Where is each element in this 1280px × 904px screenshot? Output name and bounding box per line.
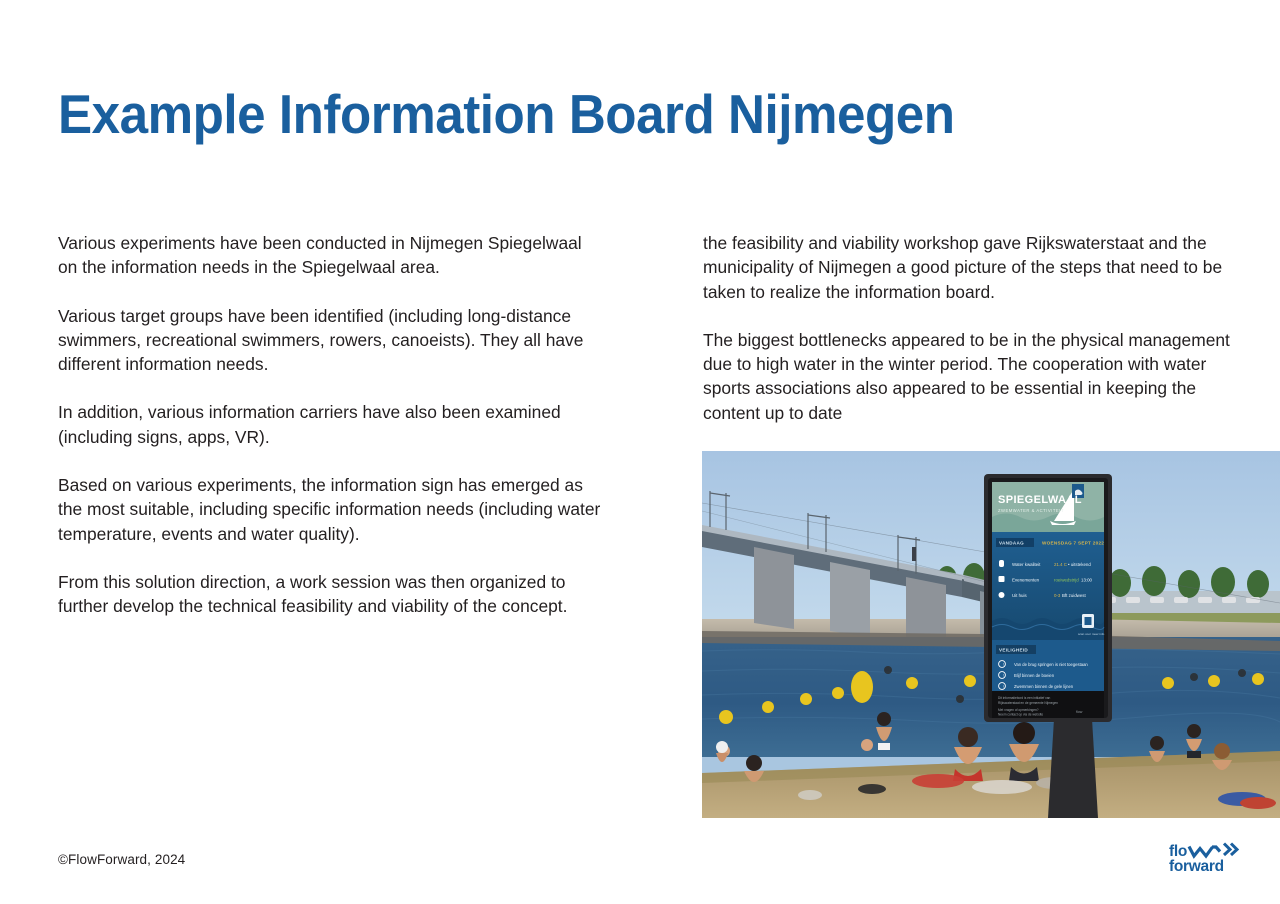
svg-text:VANDAAG: VANDAAG (999, 541, 1024, 546)
svg-text:Met vragen of opmerkingen?: Met vragen of opmerkingen? (998, 708, 1039, 712)
svg-text:Dit informatiebord is een init: Dit informatiebord is een initiatief van (998, 696, 1050, 700)
svg-text:Van de brug springen is niet t: Van de brug springen is niet toegestaan (1014, 662, 1088, 667)
svg-text:0-3: 0-3 (1054, 593, 1061, 598)
paragraph: Various experiments have been conducted … (58, 231, 603, 280)
paragraph: Based on various experiments, the inform… (58, 473, 603, 546)
paragraph: The biggest bottlenecks appeared to be i… (703, 328, 1248, 425)
svg-text:WOENSDAG 7 SEPT 2022: WOENSDAG 7 SEPT 2022 (1042, 541, 1104, 546)
body-column-left: Various experiments have been conducted … (58, 231, 603, 619)
page-title: Example Information Board Nijmegen (58, 83, 1081, 145)
paragraph: Various target groups have been identifi… (58, 304, 603, 377)
svg-text:21.4 C: 21.4 C (1054, 562, 1067, 567)
svg-text:!: ! (1003, 663, 1004, 667)
svg-text:Uit huis: Uit huis (1012, 593, 1027, 598)
footer-copyright: ©FlowForward, 2024 (58, 851, 185, 868)
svg-text:Zwemmen binnen de gele lijnen: Zwemmen binnen de gele lijnen (1014, 684, 1074, 689)
photo-illustration: SPIEGELWAAL ZWEMWATER & ACTIVITEIT VANDA… (702, 451, 1280, 818)
paragraph: In addition, various information carrier… (58, 400, 603, 449)
svg-text:13:00: 13:00 (1081, 578, 1093, 583)
svg-text:Water kwaliteit: Water kwaliteit (1012, 562, 1041, 567)
svg-text:Neem contact op via de website: Neem contact op via de website (998, 713, 1043, 717)
slide-canvas: Example Information Board Nijmegen Vario… (0, 0, 1280, 904)
svg-text:flow: flow (1076, 710, 1083, 714)
flowforward-logo: flo forward (1168, 841, 1250, 875)
svg-text:roeiwedstrijd: roeiwedstrijd (1054, 578, 1079, 583)
svg-text:Rijkswaterstaat en de gemeente: Rijkswaterstaat en de gemeente Nijmegen (998, 701, 1058, 705)
svg-text:ZWEMWATER & ACTIVITEIT: ZWEMWATER & ACTIVITEIT (998, 508, 1064, 513)
wave-arrow-icon: flo forward (1168, 841, 1250, 875)
body-column-right: the feasibility and viability workshop g… (703, 231, 1248, 425)
spiegelwaal-photo: SPIEGELWAAL ZWEMWATER & ACTIVITEIT VANDA… (702, 451, 1280, 818)
svg-text:SPIEGELWAAL: SPIEGELWAAL (998, 494, 1082, 506)
svg-text:VEILIGHEID: VEILIGHEID (999, 648, 1028, 653)
svg-text:!: ! (1003, 674, 1004, 678)
paragraph: the feasibility and viability workshop g… (703, 231, 1248, 304)
svg-text:Blijf binnen de boeien: Blijf binnen de boeien (1014, 673, 1055, 678)
svg-text:Evenementen: Evenementen (1012, 578, 1040, 583)
svg-text:scan voor meer info: scan voor meer info (1078, 632, 1105, 636)
paragraph: From this solution direction, a work ses… (58, 570, 603, 619)
svg-text:forward: forward (1169, 858, 1224, 875)
svg-text:• uitstekend: • uitstekend (1068, 562, 1091, 567)
svg-text:Bft zuidwest: Bft zuidwest (1062, 593, 1086, 598)
